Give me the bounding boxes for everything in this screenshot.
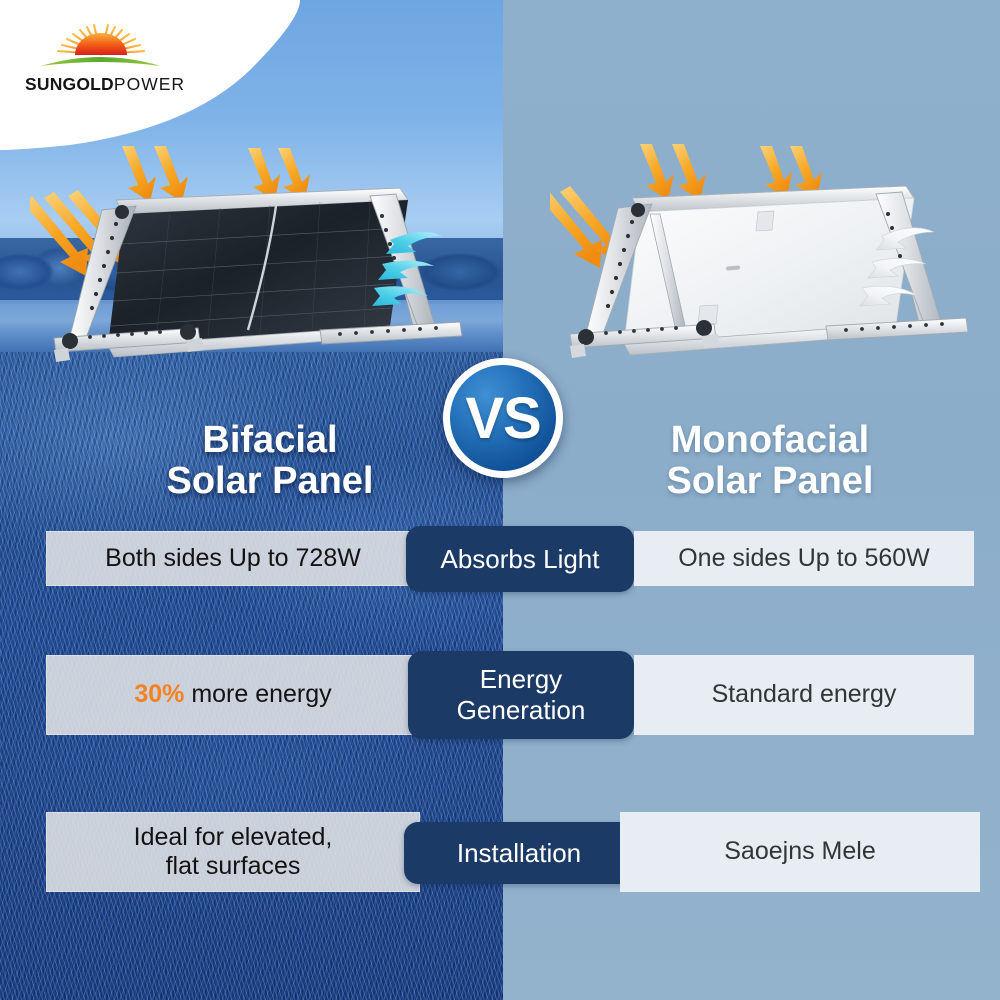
monofacial-value: Saoejns Mele <box>620 812 980 892</box>
bifacial-value: Both sides Up to 728W <box>46 531 420 586</box>
bifacial-value-line2: flat surfaces <box>166 852 301 880</box>
comparison-row: Both sides Up to 728W Absorbs Light One … <box>0 531 1000 586</box>
feature-label: Energy Generation <box>408 651 634 739</box>
bifacial-rest: more energy <box>184 680 331 708</box>
monofacial-value: Standard energy <box>634 655 974 735</box>
feature-label: Absorbs Light <box>406 526 634 592</box>
comparison-table: Both sides Up to 728W Absorbs Light One … <box>0 0 1000 1000</box>
bifacial-value: Ideal for elevated, flat surfaces <box>46 812 420 892</box>
feature-label-line1: Energy <box>480 664 562 694</box>
infographic-canvas: SUNGOLDPOWER <box>0 0 1000 1000</box>
bifacial-value: 30% more energy <box>46 655 420 735</box>
monofacial-value: One sides Up to 560W <box>634 531 974 586</box>
bifacial-highlight: 30% <box>134 680 184 708</box>
bifacial-value-line1: Ideal for elevated, <box>134 823 333 851</box>
comparison-row: Ideal for elevated, flat surfaces Instal… <box>0 812 1000 892</box>
feature-label-line2: Generation <box>457 695 586 725</box>
feature-label: Installation <box>404 822 634 884</box>
comparison-row: 30% more energy Energy Generation Standa… <box>0 655 1000 735</box>
